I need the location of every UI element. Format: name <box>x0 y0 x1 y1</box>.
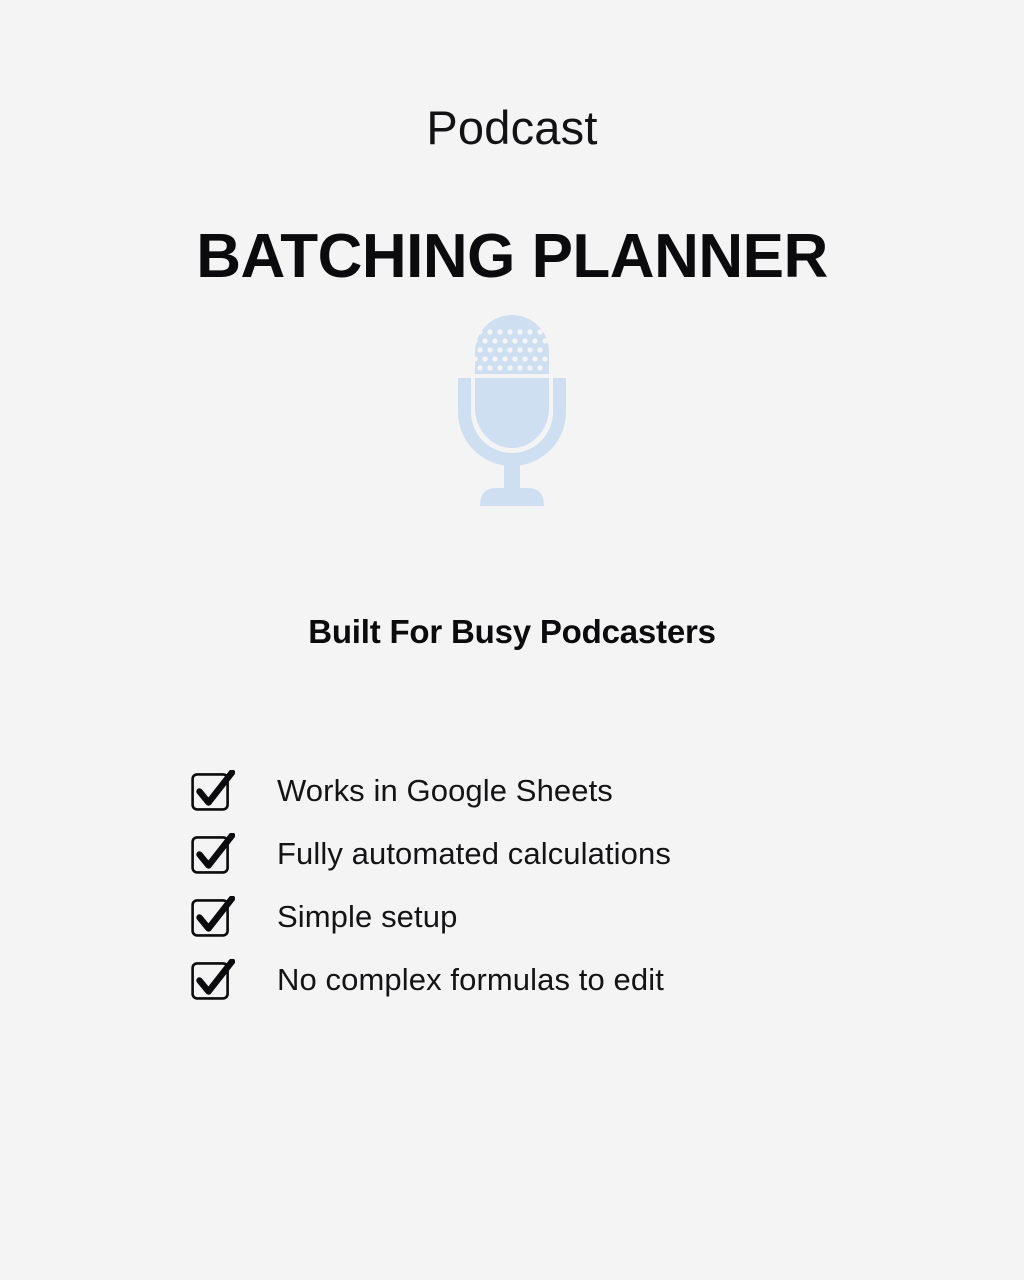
list-item-label: Simple setup <box>277 898 457 935</box>
feature-checklist: Works in Google Sheets Fully automated c… <box>191 768 891 1002</box>
hero-illustration <box>0 312 1024 512</box>
list-item[interactable]: Fully automated calculations <box>191 831 891 876</box>
checkbox-checked-icon[interactable] <box>191 896 235 938</box>
page-title: BATCHING PLANNER <box>0 225 1024 288</box>
eyebrow-text: Podcast <box>0 104 1024 151</box>
list-item[interactable]: Works in Google Sheets <box>191 768 891 813</box>
checkbox-checked-icon[interactable] <box>191 770 235 812</box>
checkbox-checked-icon[interactable] <box>191 959 235 1001</box>
subtitle: Built For Busy Podcasters <box>0 613 1024 651</box>
list-item-label: No complex formulas to edit <box>277 961 664 998</box>
list-item-label: Works in Google Sheets <box>277 772 613 809</box>
list-item-label: Fully automated calculations <box>277 835 671 872</box>
checkbox-checked-icon[interactable] <box>191 833 235 875</box>
list-item[interactable]: Simple setup <box>191 894 891 939</box>
microphone-icon <box>452 312 572 512</box>
list-item[interactable]: No complex formulas to edit <box>191 957 891 1002</box>
poster-canvas: Podcast BATCHING PLANNER <box>0 0 1024 1280</box>
